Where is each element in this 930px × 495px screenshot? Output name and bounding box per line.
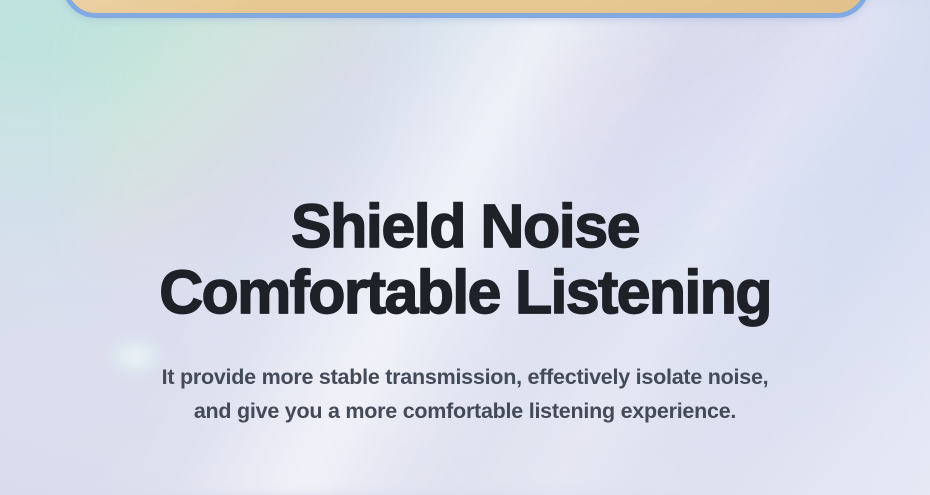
headline-line-1: Shield Noise	[0, 193, 930, 259]
page-title: Shield Noise Comfortable Listening	[0, 193, 930, 325]
banner-content: Shield Noise Comfortable Listening It pr…	[0, 0, 930, 495]
marketing-banner: Shield Noise Comfortable Listening It pr…	[0, 0, 930, 495]
subtitle-line-2: and give you a more comfortable listenin…	[0, 394, 930, 428]
headline-line-2: Comfortable Listening	[0, 259, 930, 325]
subtitle-line-1: It provide more stable transmission, eff…	[0, 360, 930, 394]
subtitle: It provide more stable transmission, eff…	[0, 360, 930, 428]
